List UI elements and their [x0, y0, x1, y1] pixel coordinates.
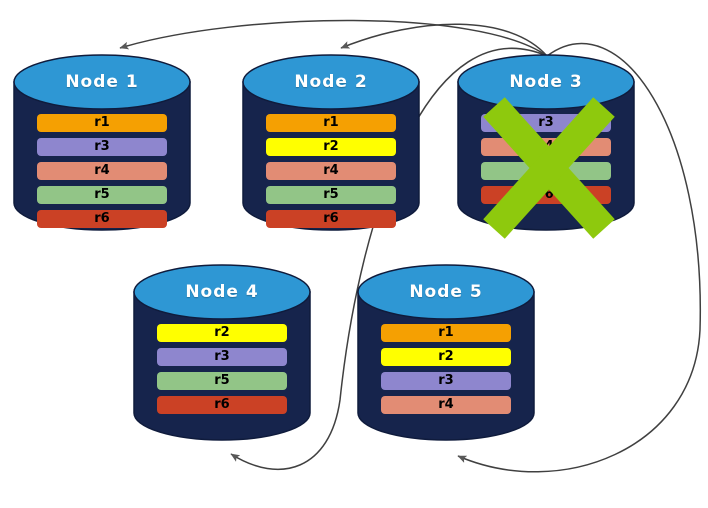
- record-list: r1r2r4r5r6: [243, 114, 419, 228]
- record-bar-r4[interactable]: r4: [381, 396, 511, 414]
- database-node-5[interactable]: Node 5r1r2r3r4: [358, 265, 534, 440]
- record-bar-r6[interactable]: r6: [157, 396, 287, 414]
- record-bar-r6[interactable]: r6: [481, 186, 611, 204]
- record-bar-r3[interactable]: r3: [481, 114, 611, 132]
- database-node-1[interactable]: Node 1r1r3r4r5r6: [14, 55, 190, 230]
- record-bar-r2[interactable]: r2: [157, 324, 287, 342]
- record-bar-r1[interactable]: r1: [381, 324, 511, 342]
- record-bar-r4[interactable]: r4: [37, 162, 167, 180]
- record-bar-r5[interactable]: r5: [266, 186, 396, 204]
- record-bar-r4[interactable]: r4: [481, 138, 611, 156]
- record-bar-r5[interactable]: r5: [481, 162, 611, 180]
- record-bar-r3[interactable]: r3: [37, 138, 167, 156]
- record-bar-r1[interactable]: r1: [37, 114, 167, 132]
- diagram-canvas: Node 1r1r3r4r5r6Node 2r1r2r4r5r6Node 3r3…: [0, 0, 708, 508]
- node-title-2: Node 2: [243, 72, 419, 92]
- record-bar-r2[interactable]: r2: [266, 138, 396, 156]
- record-bar-r2[interactable]: r2: [381, 348, 511, 366]
- record-bar-r3[interactable]: r3: [381, 372, 511, 390]
- record-bar-r5[interactable]: r5: [157, 372, 287, 390]
- record-bar-r6[interactable]: r6: [37, 210, 167, 228]
- record-list: r1r3r4r5r6: [14, 114, 190, 228]
- record-bar-r1[interactable]: r1: [266, 114, 396, 132]
- edge-node-3-to-node-1: [120, 20, 547, 56]
- node-title-3: Node 3: [458, 72, 634, 92]
- record-list: r1r2r3r4: [358, 324, 534, 414]
- database-node-3[interactable]: Node 3r3r4r5r6: [458, 55, 634, 230]
- database-node-2[interactable]: Node 2r1r2r4r5r6: [243, 55, 419, 230]
- node-title-4: Node 4: [134, 282, 310, 302]
- edge-node-3-to-node-2: [341, 24, 547, 56]
- database-node-4[interactable]: Node 4r2r3r5r6: [134, 265, 310, 440]
- record-bar-r5[interactable]: r5: [37, 186, 167, 204]
- node-title-5: Node 5: [358, 282, 534, 302]
- record-bar-r4[interactable]: r4: [266, 162, 396, 180]
- node-title-1: Node 1: [14, 72, 190, 92]
- record-list: r2r3r5r6: [134, 324, 310, 414]
- record-list: r3r4r5r6: [458, 114, 634, 204]
- record-bar-r3[interactable]: r3: [157, 348, 287, 366]
- record-bar-r6[interactable]: r6: [266, 210, 396, 228]
